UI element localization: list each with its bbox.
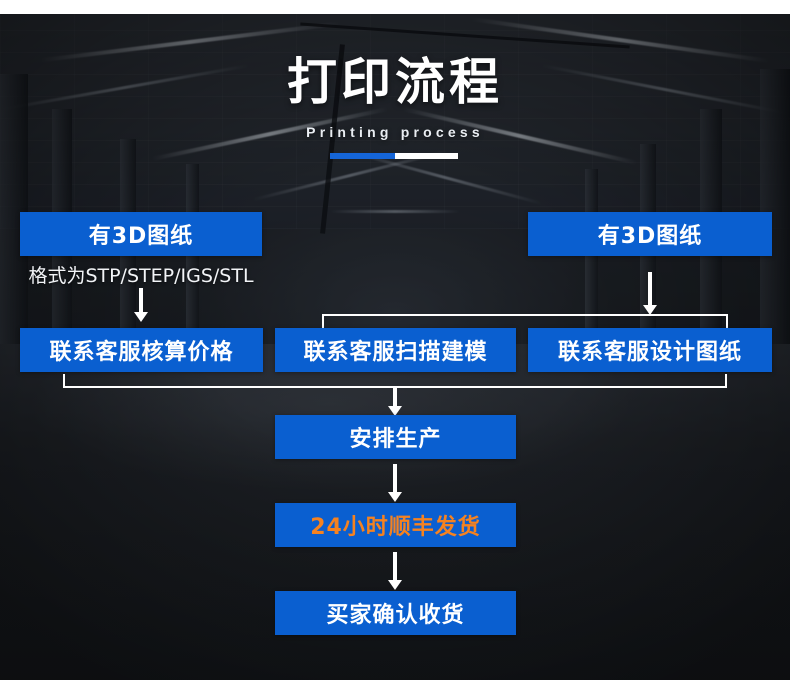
page-header: 打印流程 Printing process xyxy=(0,55,790,140)
page-subtitle: Printing process xyxy=(0,124,790,140)
print-process-infographic: 打印流程 Printing process 有3D图纸 有3D图纸 格式为STP… xyxy=(0,0,790,696)
flow-box-contact-service-design-drawing[interactable]: 联系客服设计图纸 xyxy=(528,328,772,372)
flow-box-buyer-confirm-receipt[interactable]: 买家确认收货 xyxy=(275,591,516,635)
arrow-down-icon xyxy=(388,464,402,502)
arrow-down-icon xyxy=(643,272,657,316)
flow-box-contact-service-scan-model[interactable]: 联系客服扫描建模 xyxy=(275,328,516,372)
title-underline xyxy=(330,153,458,159)
flow-box-right-has-3d-drawing[interactable]: 有3D图纸 xyxy=(528,212,772,256)
flow-box-sf-express-24h[interactable]: 24小时顺丰发货 xyxy=(275,503,516,547)
arrow-down-icon xyxy=(388,552,402,590)
flow-box-contact-service-quote[interactable]: 联系客服核算价格 xyxy=(20,328,263,372)
underline-white-segment xyxy=(395,153,458,159)
arrow-down-icon xyxy=(388,386,402,416)
page-title: 打印流程 xyxy=(0,55,790,110)
left-format-note: 格式为STP/STEP/IGS/STL xyxy=(20,261,262,288)
flow-box-left-has-3d-drawing[interactable]: 有3D图纸 xyxy=(20,212,262,256)
flow-box-arrange-production[interactable]: 安排生产 xyxy=(275,415,516,459)
underline-blue-segment xyxy=(330,153,395,159)
arrow-down-icon xyxy=(134,288,148,322)
